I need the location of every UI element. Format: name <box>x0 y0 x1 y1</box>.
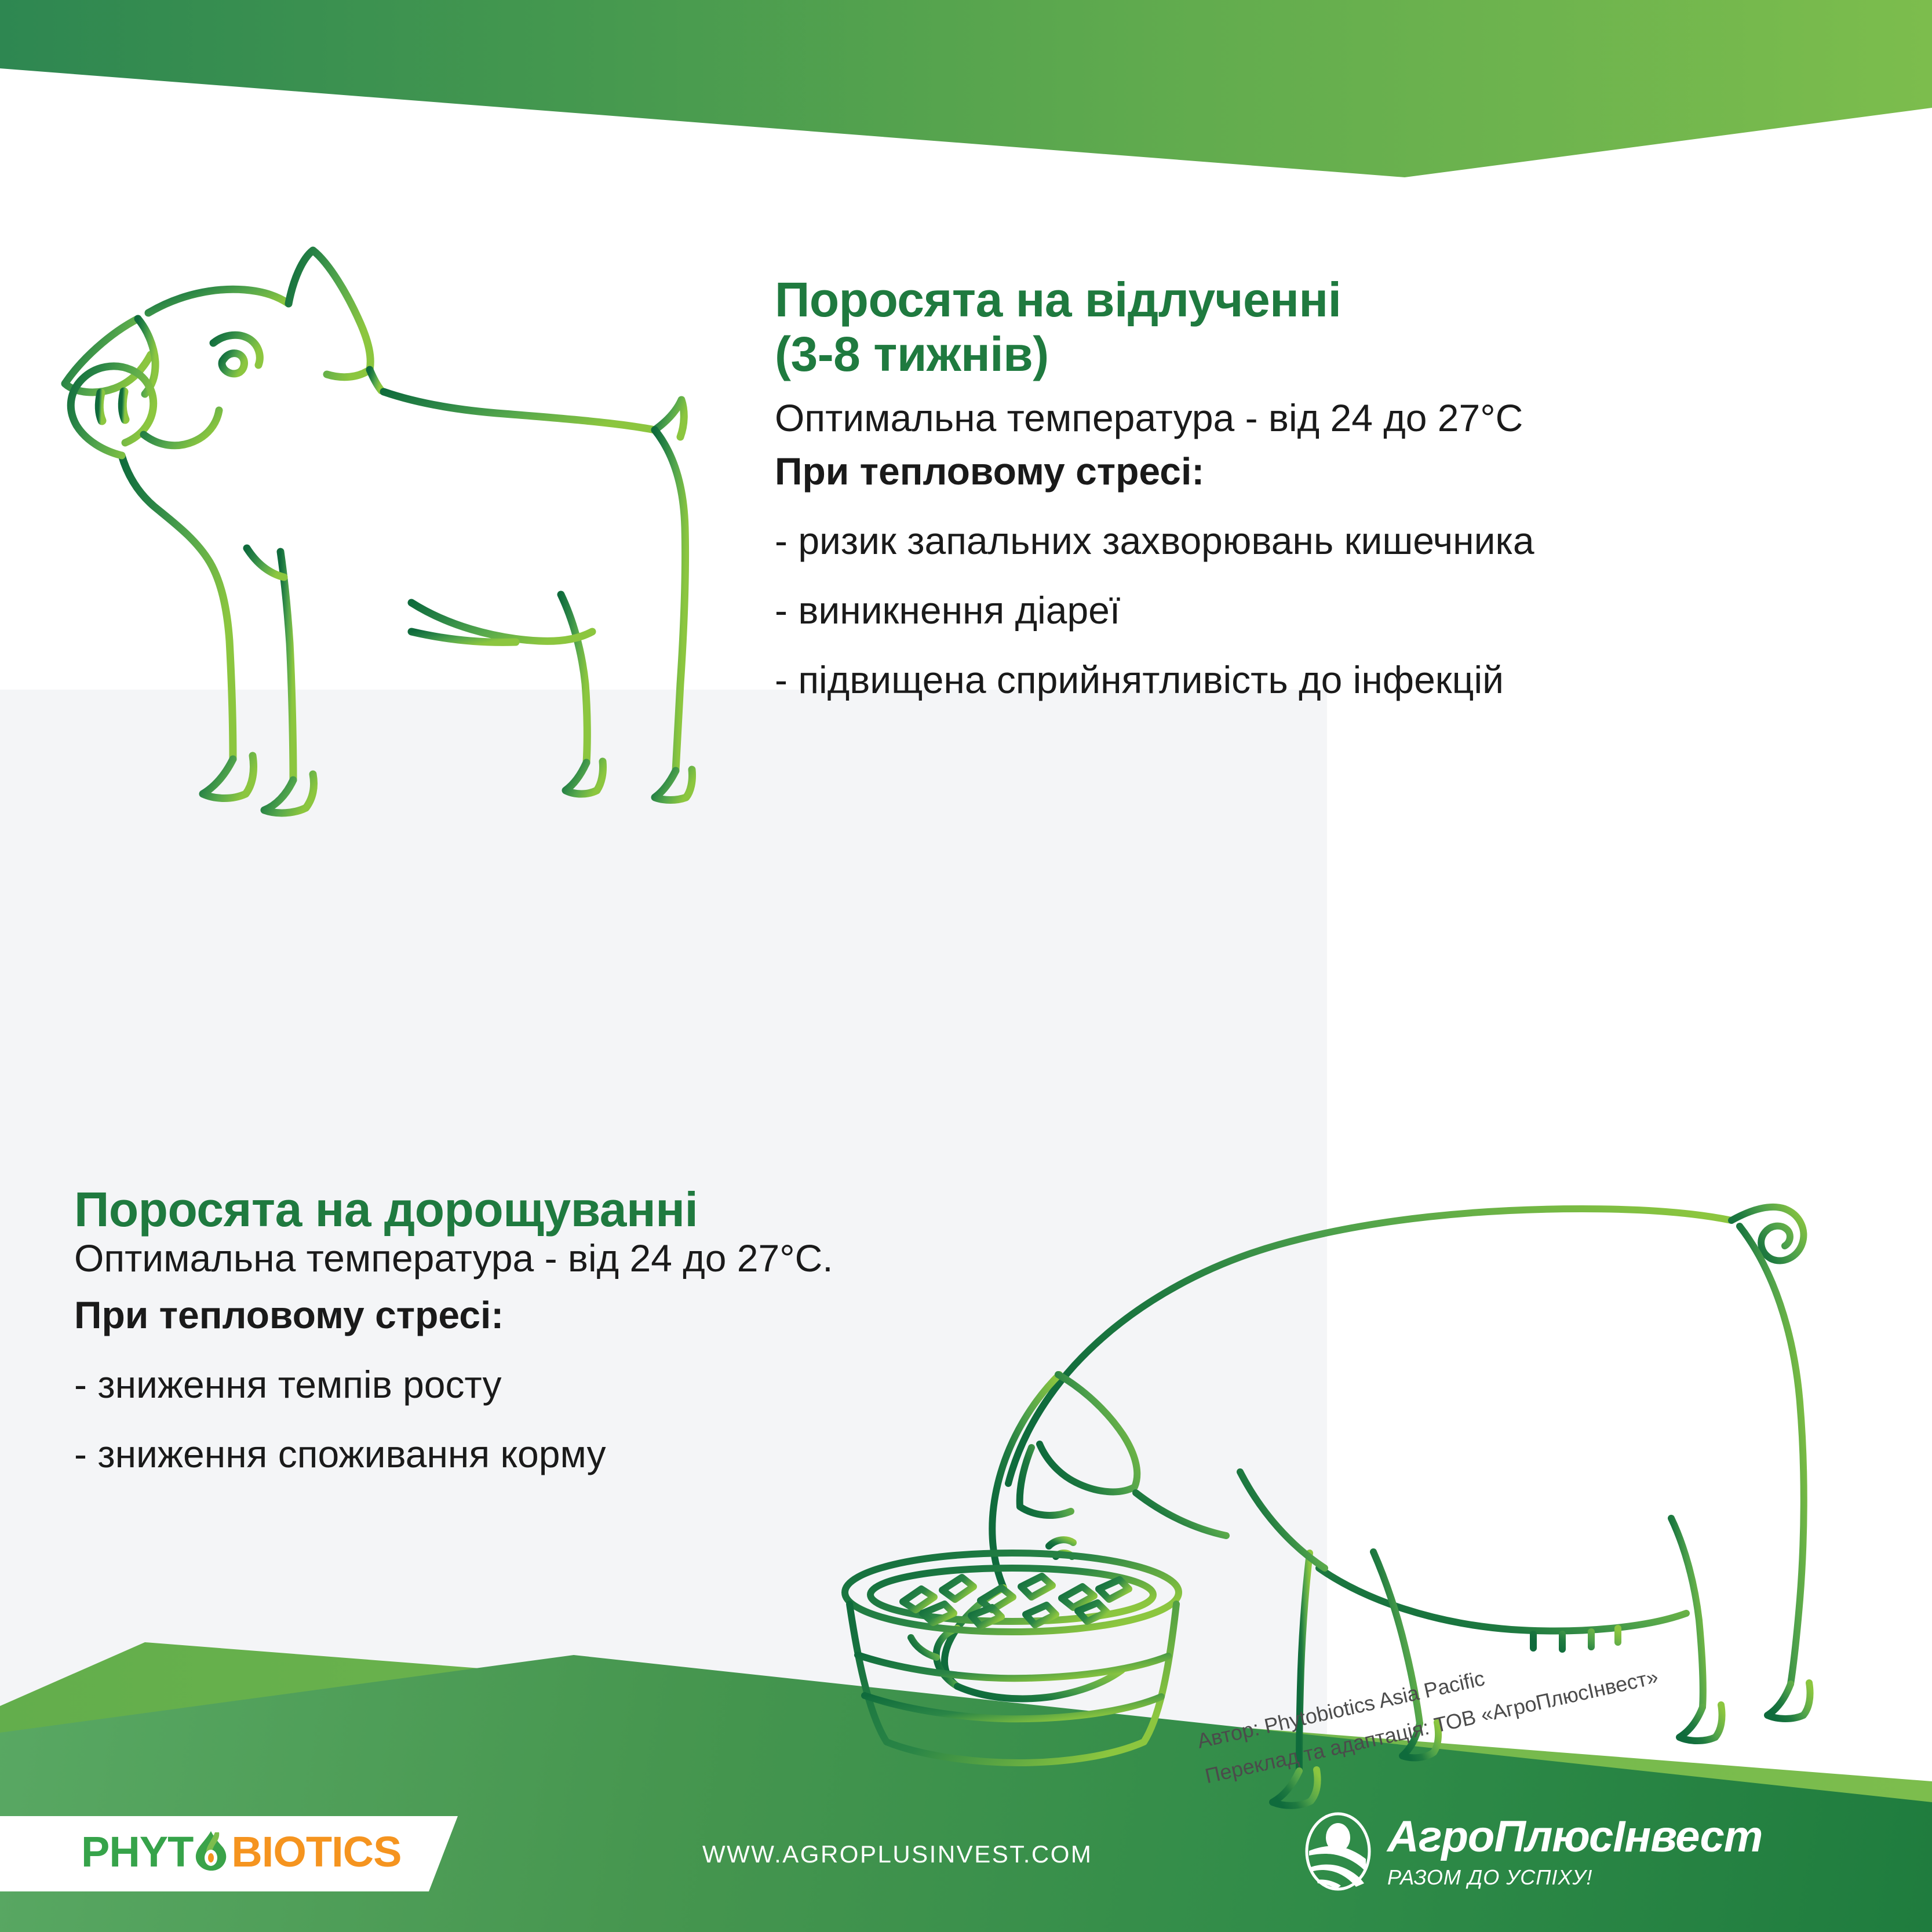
list-item: - підвищена сприйнятливість до інфекцій <box>775 658 1534 702</box>
list-item: - ризик запальних захворювань кишечника <box>775 519 1534 563</box>
section-2-stress-label: При тепловому стресі: <box>74 1293 833 1337</box>
header-green-chevron-band <box>0 0 1932 185</box>
agroplusinvest-wordmark: АгроПлюсІнвест РАЗОМ ДО УСПІХУ! <box>1387 1815 1762 1888</box>
section-growing-piglets: Поросята на дорощуванні Оптимальна темпе… <box>74 1182 833 1477</box>
website-url[interactable]: WWW.AGROPLUSINVEST.COM <box>702 1840 1092 1868</box>
section-1-stress-label: При тепловому стресі: <box>775 450 1534 494</box>
section-1-temperature-line: Оптимальна температура - від 24 до 27°C <box>775 396 1534 440</box>
piglet-standing-illustration <box>41 226 713 811</box>
section-1-heading-line-2: (3-8 тижнів) <box>775 327 1534 381</box>
agroplusinvest-name: АгроПлюсІнвест <box>1387 1815 1762 1859</box>
list-item: - зниження споживання корму <box>74 1432 833 1477</box>
droplet-icon <box>192 1829 232 1875</box>
infographic-canvas: Поросята на відлученні (3-8 тижнів) Опти… <box>0 0 1932 1932</box>
list-item: - виникнення діареї <box>775 589 1534 633</box>
section-2-bullet-list: - зниження темпів росту - зниження спожи… <box>74 1363 833 1477</box>
section-1-bullet-list: - ризик запальних захворювань кишечника … <box>775 519 1534 702</box>
section-2-heading-line-1: Поросята на дорощуванні <box>74 1182 833 1237</box>
list-item: - зниження темпів росту <box>74 1363 833 1407</box>
phytobiotics-logo-part-2: BIOTICS <box>231 1827 401 1876</box>
agroplusinvest-logo[interactable]: АгроПлюсІнвест РАЗОМ ДО УСПІХУ! <box>1304 1811 1762 1891</box>
field-sunrise-oval-emblem-icon <box>1304 1811 1372 1891</box>
section-2-temperature-line: Оптимальна температура - від 24 до 27°C. <box>74 1237 833 1281</box>
agroplusinvest-tagline: РАЗОМ ДО УСПІХУ! <box>1387 1867 1592 1888</box>
section-weaned-piglets: Поросята на відлученні (3-8 тижнів) Опти… <box>775 272 1534 702</box>
section-1-heading-line-1: Поросята на відлученні <box>775 272 1534 327</box>
phytobiotics-logo-part-1: PHYT <box>81 1827 193 1876</box>
phytobiotics-logo[interactable]: PHYT BIOTICS <box>81 1827 401 1876</box>
